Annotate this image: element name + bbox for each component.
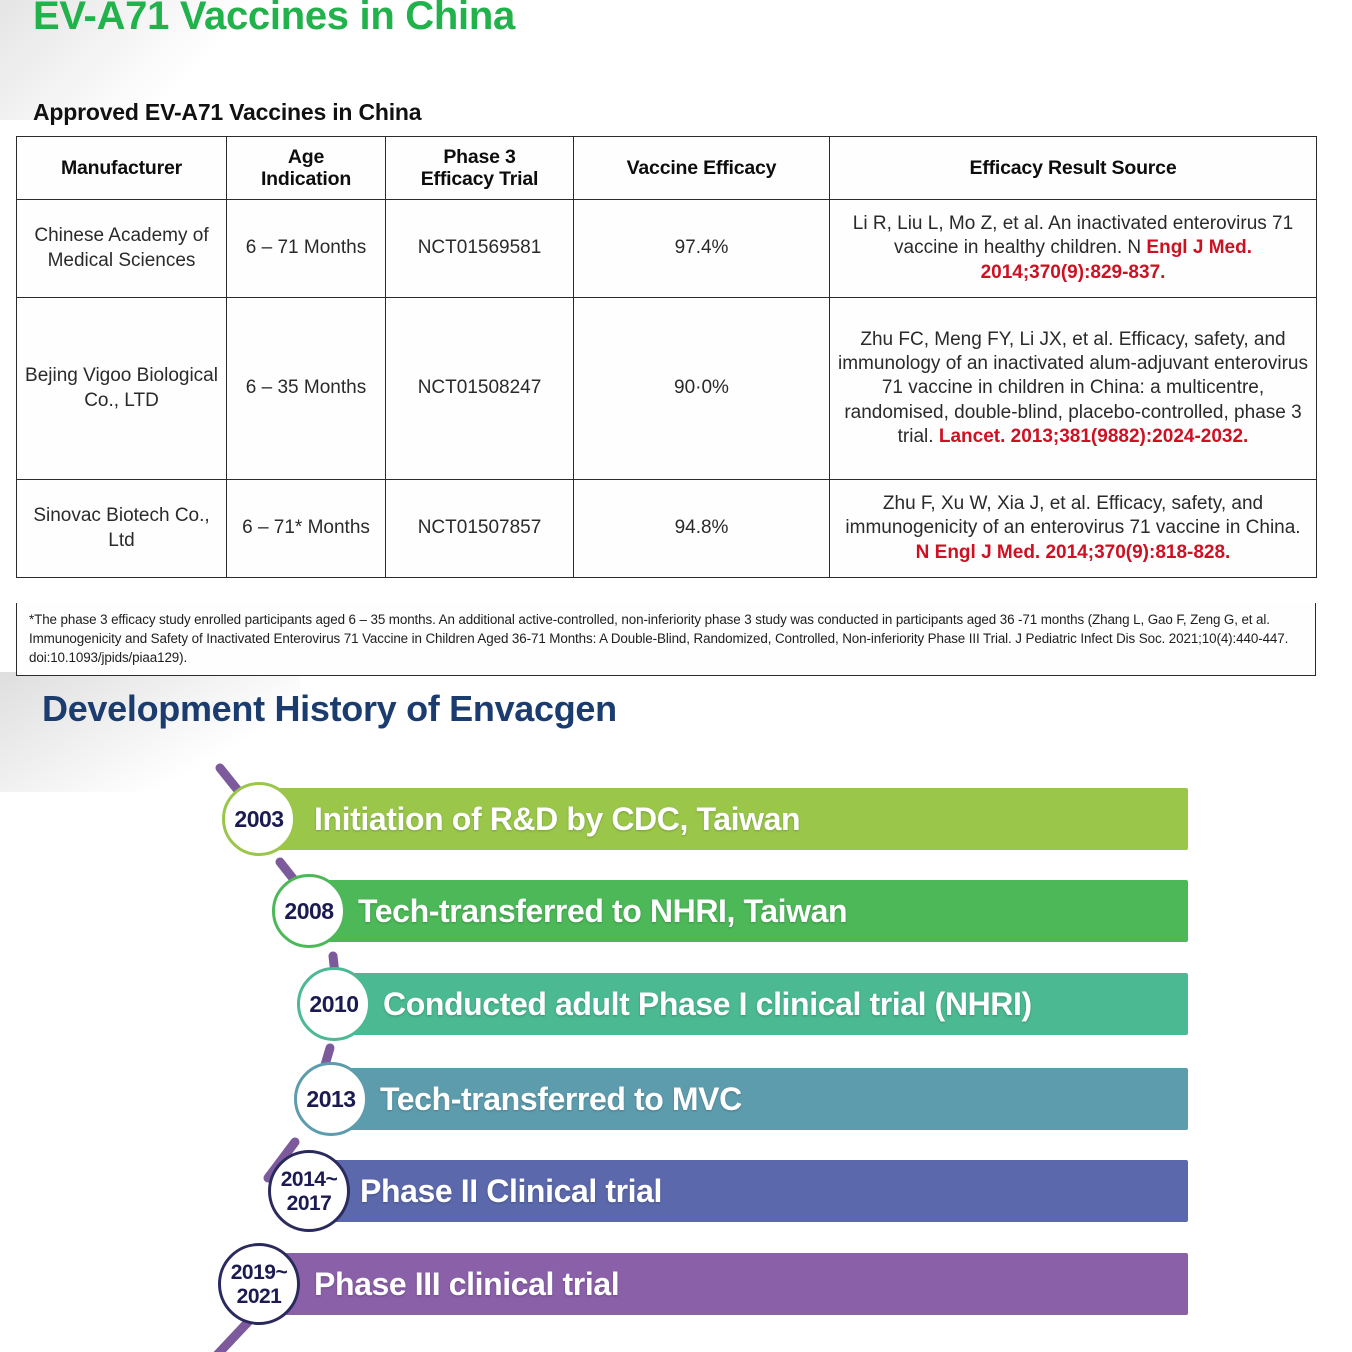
cell-manufacturer: Bejing Vigoo Biological Co., LTD [17,298,227,480]
timeline-year-text: 2013 [306,1088,355,1111]
vaccine-table-container: Manufacturer Age Indication Phase 3 Effi… [16,136,1316,578]
column-header-efficacy-result-source: Efficacy Result Source [830,137,1317,200]
timeline-bar[interactable]: Tech-transferred to NHRI, Taiwan [300,880,1188,942]
cell-efficacy-source: Li R, Liu L, Mo Z, et al. An inactivated… [830,200,1317,298]
timeline-item-label: Phase II Clinical trial [360,1173,662,1210]
timeline-row: Tech-transferred to NHRI, Taiwan 2008 [300,880,1188,942]
source-plain-text: Zhu F, Xu W, Xia J, et al. Efficacy, saf… [845,493,1300,538]
cell-manufacturer: Chinese Academy of Medical Sciences [17,200,227,298]
cell-age-indication: 6 – 35 Months [227,298,386,480]
table-row: Chinese Academy of Medical Sciences 6 – … [17,200,1317,298]
cell-vaccine-efficacy: 94.8% [574,480,830,578]
timeline-row: Phase II Clinical trial 2014~ 2017 [298,1160,1188,1222]
timeline-year-text-line2: 2021 [237,1286,282,1307]
cell-manufacturer: Sinovac Biotech Co., Ltd [17,480,227,578]
header-text-line1: Age [288,146,324,168]
column-header-vaccine-efficacy: Vaccine Efficacy [574,137,830,200]
cell-age-indication: 6 – 71 Months [227,200,386,298]
timeline-bar[interactable]: Initiation of R&D by CDC, Taiwan [248,788,1188,850]
header-text-line2: Efficacy Trial [421,168,539,190]
cell-efficacy-source: Zhu F, Xu W, Xia J, et al. Efficacy, saf… [830,480,1317,578]
approved-vaccines-table: Manufacturer Age Indication Phase 3 Effi… [16,136,1317,578]
timeline-year-text: 2010 [309,993,358,1016]
development-timeline: Initiation of R&D by CDC, Taiwan 2003 Te… [0,760,1352,1352]
cell-trial-id: NCT01507857 [386,480,574,578]
timeline-bar[interactable]: Conducted adult Phase I clinical trial (… [325,973,1188,1035]
column-header-manufacturer: Manufacturer [17,137,227,200]
header-text: Vaccine Efficacy [627,157,777,179]
header-text-line1: Phase 3 [443,146,515,168]
timeline-year-text-line1: 2014~ [281,1169,337,1190]
header-text: Efficacy Result Source [970,157,1177,179]
table-row: Sinovac Biotech Co., Ltd 6 – 71* Months … [17,480,1317,578]
table-row: Bejing Vigoo Biological Co., LTD 6 – 35 … [17,298,1317,480]
timeline-year-badge[interactable]: 2008 [272,874,346,948]
timeline-bar[interactable]: Phase II Clinical trial [298,1160,1188,1222]
timeline-row: Conducted adult Phase I clinical trial (… [325,973,1188,1035]
source-journal-reference: N Engl J Med. 2014;370(9):818-828. [916,542,1231,563]
table-footnote-box: *The phase 3 efficacy study enrolled par… [16,603,1316,676]
timeline-year-badge[interactable]: 2003 [222,782,296,856]
table-footnote-text: *The phase 3 efficacy study enrolled par… [29,610,1305,667]
timeline-item-label: Conducted adult Phase I clinical trial (… [383,986,1032,1023]
header-text: Manufacturer [61,157,182,179]
table-caption: Approved EV-A71 Vaccines in China [33,99,421,126]
timeline-item-label: Tech-transferred to NHRI, Taiwan [358,893,847,930]
timeline-row: Initiation of R&D by CDC, Taiwan 2003 [248,788,1188,850]
source-journal-reference: Lancet. 2013;381(9882):2024-2032. [939,426,1248,447]
timeline-item-label: Phase III clinical trial [314,1266,619,1303]
cell-efficacy-source: Zhu FC, Meng FY, Li JX, et al. Efficacy,… [830,298,1317,480]
timeline-year-badge[interactable]: 2019~ 2021 [218,1243,300,1325]
header-text-line2: Indication [261,168,351,190]
timeline-row: Phase III clinical trial 2019~ 2021 [248,1253,1188,1315]
page-title-development-history: Development History of Envacgen [42,688,617,730]
cell-vaccine-efficacy: 90·0% [574,298,830,480]
timeline-bar[interactable]: Phase III clinical trial [248,1253,1188,1315]
cell-age-indication: 6 – 71* Months [227,480,386,578]
timeline-item-label: Initiation of R&D by CDC, Taiwan [314,801,800,838]
timeline-row: Tech-transferred to MVC 2013 [322,1068,1188,1130]
page-title-vaccines: EV-A71 Vaccines in China [33,0,515,39]
column-header-age-indication: Age Indication [227,137,386,200]
column-header-phase3-trial: Phase 3 Efficacy Trial [386,137,574,200]
timeline-bar[interactable]: Tech-transferred to MVC [322,1068,1188,1130]
cell-trial-id: NCT01508247 [386,298,574,480]
timeline-year-text: 2008 [284,900,333,923]
timeline-year-badge[interactable]: 2013 [294,1062,368,1136]
cell-vaccine-efficacy: 97.4% [574,200,830,298]
timeline-item-label: Tech-transferred to MVC [380,1081,742,1118]
timeline-year-badge[interactable]: 2014~ 2017 [268,1150,350,1232]
timeline-year-text-line1: 2019~ [231,1262,287,1283]
table-header-row: Manufacturer Age Indication Phase 3 Effi… [17,137,1317,200]
timeline-year-text: 2003 [234,808,283,831]
cell-trial-id: NCT01569581 [386,200,574,298]
timeline-year-text-line2: 2017 [287,1193,332,1214]
timeline-year-badge[interactable]: 2010 [297,967,371,1041]
